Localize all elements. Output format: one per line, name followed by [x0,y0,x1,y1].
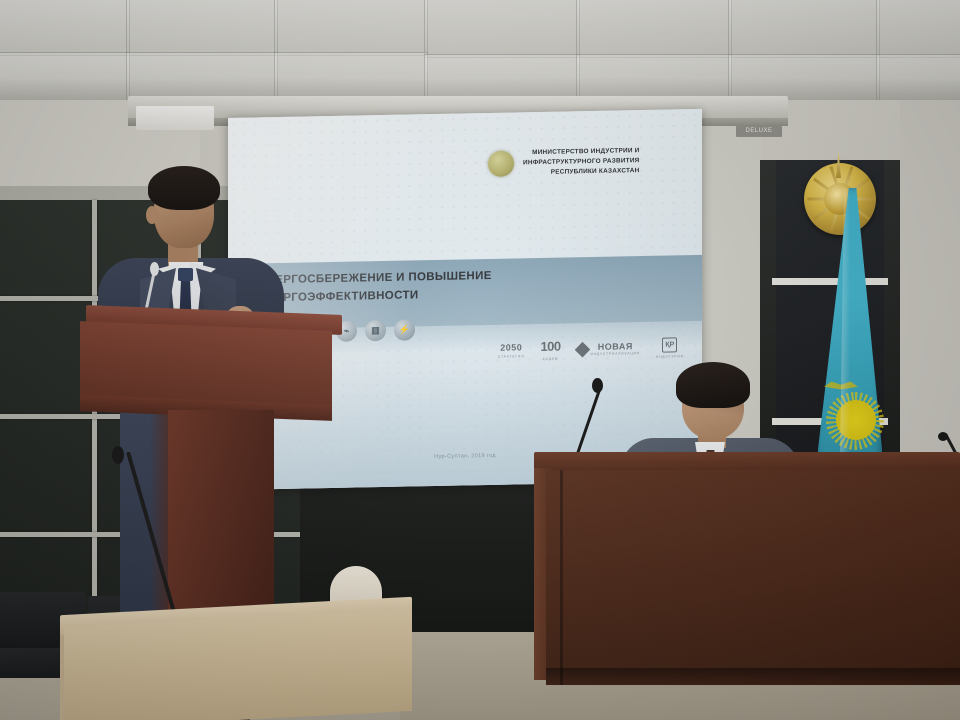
novaya-logo: НОВАЯ ИНДУСТРИАЛИЗАЦИЯ [577,342,640,357]
logo-2050-sub: СТРАТЕГИЯ [498,356,524,360]
ministry-lockup: МИНИСТЕРСТВО ИНДУСТРИИ И ИНФРАСТРУКТУРНО… [488,146,640,179]
logo-box-sub: ИНДУСТРИЯ [656,355,684,359]
logo-100-text: 100 [540,340,560,355]
podium-microphone-icon [150,262,159,276]
side-microphone-icon [938,432,948,441]
ministry-seal-icon [488,150,514,176]
industry-box-logo: ҚР ИНДУСТРИЯ [656,337,684,359]
kazakhstan-2050-logo: 2050 СТРАТЕГИЯ [498,343,524,360]
slide-partner-logos: 2050 СТРАТЕГИЯ 100 ҚАДАМ НОВАЯ ИНДУСТРИА… [498,337,684,362]
floor-microphone-icon [112,446,124,464]
papers-on-table [136,106,214,130]
speaker-hair [148,166,220,210]
speaker-ear [146,206,158,224]
speaker-tie-knot [178,268,193,281]
100-steps-logo: 100 ҚАДАМ [540,340,560,361]
official-hair [676,362,750,408]
diamond-icon [574,342,590,358]
presidium-table-shadow [546,668,960,686]
logo-novaya-sub: ИНДУСТРИАЛИЗАЦИЯ [591,352,640,356]
conference-hall-photo: DELUXE МИНИСТЕРСТВО ИНДУСТРИИ И ИНФРАСТР… [0,0,960,720]
presidium-table-seam [560,470,563,685]
presidium-microphone-icon [592,378,603,393]
presidium-table-front [546,470,960,685]
logo-2050-text: 2050 [500,343,522,353]
screen-brand-label: DELUXE [736,126,782,137]
foreground-table-front [64,609,412,720]
ministry-text: МИНИСТЕРСТВО ИНДУСТРИИ И ИНФРАСТРУКТУРНО… [523,146,640,178]
box-icon: ҚР [662,337,677,352]
logo-100-sub: ҚАДАМ [543,357,559,361]
